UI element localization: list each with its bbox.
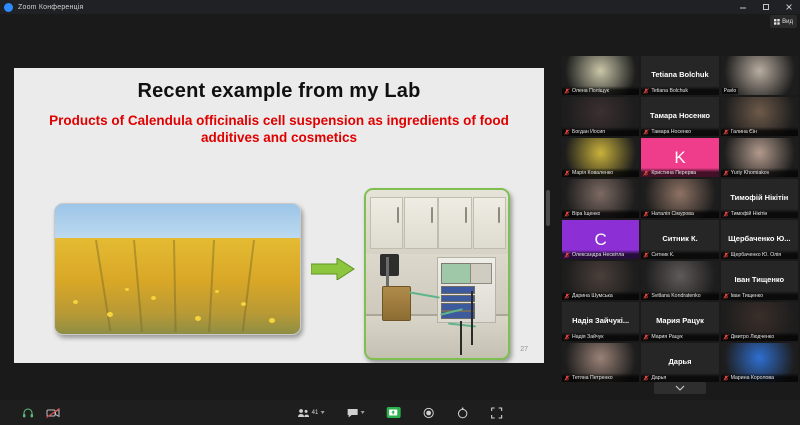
participant-namebar: Кристина Перерва [641, 168, 718, 177]
panel-resize-handle[interactable] [546, 190, 550, 226]
shared-screen-stage: Recent example from my Lab Products of C… [0, 28, 560, 400]
grid-scroll-down-button[interactable] [654, 382, 706, 394]
mic-off-icon [564, 293, 570, 299]
window-title-bar: Zoom Конференція [0, 0, 800, 14]
mic-off-icon [723, 293, 729, 299]
close-icon[interactable] [777, 0, 800, 14]
mic-off-icon [723, 170, 729, 176]
participant-name: Тамара Носенко [651, 129, 691, 135]
zoom-meeting-window: Zoom Конференція Вид Recent example from… [0, 0, 800, 425]
slide-subtitle: Products of Calendula officinalis cell s… [36, 112, 522, 147]
mic-off-icon [723, 211, 729, 217]
presentation-slide: Recent example from my Lab Products of C… [14, 68, 544, 363]
mic-off-icon [723, 375, 729, 381]
participant-tile[interactable]: Віра Іщенко [562, 179, 639, 218]
participant-tag: Pavlo [722, 88, 739, 94]
mic-off-icon [564, 252, 570, 258]
mic-off-icon [564, 129, 570, 135]
mic-off-icon [564, 88, 570, 94]
participant-namebar: Галина Єін [721, 127, 798, 136]
participant-namebar: Богдан Йосип [562, 127, 639, 136]
participant-tile[interactable]: Ситник К.Ситник К. [641, 220, 718, 259]
reactions-icon [456, 407, 468, 419]
participant-namebar: Yuriy Khomiakov [721, 168, 798, 177]
participant-tile[interactable]: Наталія Сімурова [641, 179, 718, 218]
participant-namebar: Олена Поліщук [562, 86, 639, 95]
chat-icon [346, 408, 358, 418]
mic-off-icon [643, 252, 649, 258]
bioreactor-hplc-photo [364, 188, 510, 360]
participant-name: Ситник К. [651, 252, 674, 258]
participants-button[interactable]: 41 [298, 408, 325, 418]
participant-tile[interactable]: Іван ТищенкоІван Тищенко [721, 261, 798, 300]
participant-namebar: Мария Рацук [641, 332, 718, 341]
mic-off-icon [643, 334, 649, 340]
participant-namebar: Ситник К. [641, 250, 718, 259]
view-grid-icon [774, 19, 780, 25]
photo-field-area [55, 238, 300, 334]
participant-name: Галина Єін [731, 129, 757, 135]
record-icon [422, 407, 434, 419]
participant-tile[interactable]: Тетяна Петренко [562, 343, 639, 382]
participants-count: 41 [312, 410, 319, 416]
participant-name: Марія Коваленко [572, 170, 613, 176]
audio-button[interactable] [22, 407, 34, 419]
mic-off-icon [564, 170, 570, 176]
participant-tile[interactable]: ДарьяДарья [641, 343, 718, 382]
headphone-icon [22, 407, 34, 419]
participant-tile[interactable]: Pavlo [721, 56, 798, 95]
participant-tile[interactable]: Олена Поліщук [562, 56, 639, 95]
participant-namebar: Іван Тищенко [721, 291, 798, 300]
window-controls [731, 0, 800, 14]
participant-name: Олександра Несвітла [572, 252, 624, 258]
participant-name: Наталія Сімурова [651, 211, 694, 217]
participant-tile[interactable]: Мария РацукМария Рацук [641, 302, 718, 341]
calendula-field-photo [54, 203, 301, 335]
mic-off-icon [564, 375, 570, 381]
participant-name: Тимофій Нікітін [731, 211, 768, 217]
participant-tile[interactable]: Галина Єін [721, 97, 798, 136]
participant-namebar: Тамара Носенко [641, 127, 718, 136]
participant-namebar: Тетяна Петренко [562, 373, 639, 382]
maximize-icon[interactable] [754, 0, 777, 14]
participant-tile[interactable]: KКристина Перерва [641, 138, 718, 177]
fullscreen-button[interactable] [490, 407, 502, 419]
participant-name: Марина Королова [731, 375, 774, 381]
mic-off-icon [643, 170, 649, 176]
participant-name: Дарина Шумська [572, 293, 613, 299]
participant-name: Щербаченко Ю. Олія [731, 252, 781, 258]
mic-off-icon [643, 375, 649, 381]
participant-namebar: Наталія Сімурова [641, 209, 718, 218]
mic-off-icon [564, 211, 570, 217]
participant-tile[interactable]: Марина Королова [721, 343, 798, 382]
participant-namebar: Дарина Шумська [562, 291, 639, 300]
participant-name: Мария Рацук [651, 334, 682, 340]
participant-namebar: Тимофій Нікітін [721, 209, 798, 218]
participant-namebar: Tetiana Bolchuk [641, 86, 718, 95]
participant-namebar: Надія Зайчук [562, 332, 639, 341]
participant-namebar: Олександра Несвітла [562, 250, 639, 259]
participant-tile[interactable]: Богдан Йосип [562, 97, 639, 136]
window-title: Zoom Конференція [18, 4, 84, 11]
participant-namebar: Дмитро Людченко [721, 332, 798, 341]
participant-namebar: Віра Іщенко [562, 209, 639, 218]
participant-name: Дмитро Людченко [731, 334, 774, 340]
participant-namebar: Svitlana Kondratenko [641, 291, 718, 300]
record-button[interactable] [422, 407, 434, 419]
mic-off-icon [643, 129, 649, 135]
participant-name: Yuriy Khomiakov [731, 170, 770, 176]
participant-name: Тетяна Петренко [572, 375, 613, 381]
participant-name: Віра Іщенко [572, 211, 600, 217]
participant-tile[interactable]: Тимофій НікітінТимофій Нікітін [721, 179, 798, 218]
view-button[interactable]: Вид [770, 15, 797, 28]
green-right-arrow [311, 258, 355, 280]
share-screen-button[interactable] [386, 407, 400, 418]
meeting-toolbar: 41 [0, 400, 800, 425]
participant-namebar: Марина Королова [721, 373, 798, 382]
participant-grid: Олена ПоліщукTetiana BolchukTetiana Bolc… [560, 28, 800, 400]
mic-off-icon [723, 334, 729, 340]
fullscreen-icon [490, 407, 502, 419]
zoom-logo-icon [4, 3, 13, 12]
bioreactor-vessel [382, 286, 411, 322]
participant-tile[interactable]: Svitlana Kondratenko [641, 261, 718, 300]
mic-off-icon [723, 129, 729, 135]
chat-caret-icon[interactable] [360, 411, 364, 414]
participant-name: Іван Тищенко [731, 293, 763, 299]
participant-tile[interactable]: Тамара НосенкоТамара Носенко [641, 97, 718, 136]
participant-tile[interactable]: Марія Коваленко [562, 138, 639, 177]
slide-title: Recent example from my Lab [14, 80, 544, 103]
participant-name: Дарья [651, 375, 666, 381]
participant-tiles: Олена ПоліщукTetiana BolchukTetiana Bolc… [562, 56, 798, 382]
stirrer-motor [380, 254, 398, 276]
participant-namebar: Щербаченко Ю. Олія [721, 250, 798, 259]
mic-off-icon [564, 334, 570, 340]
mic-off-icon [723, 252, 729, 258]
participant-name: Svitlana Kondratenko [651, 293, 700, 299]
participant-tile[interactable]: Tetiana BolchukTetiana Bolchuk [641, 56, 718, 95]
mic-off-icon [643, 211, 649, 217]
reactions-button[interactable] [456, 407, 468, 419]
participant-tile[interactable]: Надія Зайчукі...Надія Зайчук [562, 302, 639, 341]
participant-name: Надія Зайчук [572, 334, 604, 340]
share-screen-icon [389, 409, 398, 417]
mic-off-icon [643, 88, 649, 94]
participant-name: Кристина Перерва [651, 170, 696, 176]
photo-sky [55, 204, 300, 238]
video-off-icon [46, 407, 60, 419]
chat-button[interactable] [346, 408, 364, 418]
participant-tile[interactable]: Дарина Шумська [562, 261, 639, 300]
mic-off-icon [643, 293, 649, 299]
chevron-down-icon [675, 385, 685, 391]
video-button[interactable] [46, 407, 60, 419]
minimize-icon[interactable] [731, 0, 754, 14]
participant-name: Tetiana Bolchuk [651, 88, 688, 94]
participant-tile[interactable]: Дмитро Людченко [721, 302, 798, 341]
slide-page-number: 27 [520, 346, 528, 353]
participant-tile[interactable]: Щербаченко Ю...Щербаченко Ю. Олія [721, 220, 798, 259]
participant-name: Олена Поліщук [572, 88, 609, 94]
participants-caret-icon[interactable] [320, 411, 324, 414]
participant-tile[interactable]: CОлександра Несвітла [562, 220, 639, 259]
view-button-label: Вид [782, 19, 793, 25]
participant-tile[interactable]: Yuriy Khomiakov [721, 138, 798, 177]
participant-namebar: Марія Коваленко [562, 168, 639, 177]
participant-name: Богдан Йосип [572, 129, 605, 135]
participants-icon [298, 408, 310, 418]
participant-namebar: Дарья [641, 373, 718, 382]
